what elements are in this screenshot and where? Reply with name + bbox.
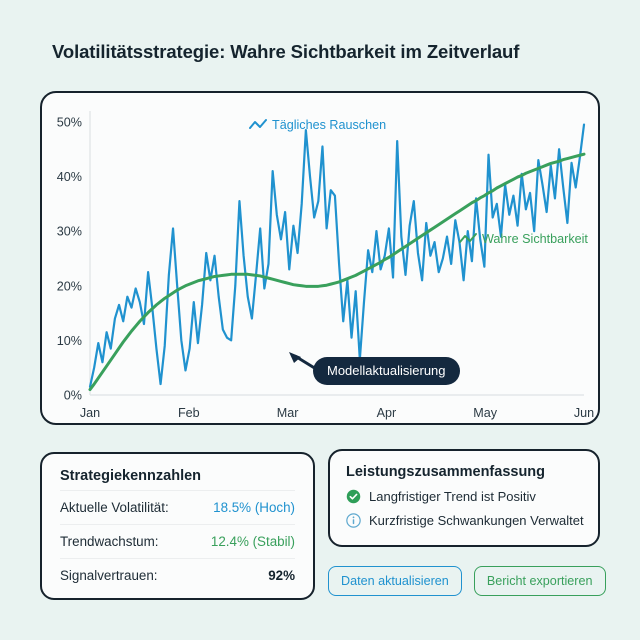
summary-card: Leistungszusammenfassung Langfristiger T…	[328, 449, 600, 547]
x-axis-tick-label: Feb	[178, 406, 200, 420]
metric-row-trend-growth: Trendwachstum: 12.4% (Stabil)	[60, 524, 295, 558]
summary-item-label: Kurzfristige Schwankungen Verwaltet	[369, 513, 584, 528]
metric-value: 18.5% (Hoch)	[213, 500, 295, 515]
y-axis-tick-label: 40%	[57, 170, 82, 184]
x-axis-tick-label: Jan	[80, 406, 100, 420]
noise-series-line	[90, 125, 584, 387]
y-axis-tick-label: 50%	[57, 115, 82, 129]
trend-legend-label: Wahre Sichtbarkeit	[482, 232, 588, 246]
summary-item-trend: Langfristiger Trend ist Positiv	[346, 489, 582, 504]
info-circle-icon	[346, 513, 361, 528]
x-axis-tick-label: Apr	[377, 406, 397, 420]
page-title: Volatilitätsstrategie: Wahre Sichtbarkei…	[52, 41, 519, 63]
summary-card-title: Leistungszusammenfassung	[346, 464, 582, 480]
y-axis-tick-label: 10%	[57, 334, 82, 348]
metric-label: Signalvertrauen:	[60, 568, 158, 583]
refresh-data-button[interactable]: Daten aktualisieren	[328, 566, 462, 596]
x-axis-tick-label: Jun	[574, 406, 594, 420]
action-button-row: Daten aktualisieren Bericht exportieren	[328, 566, 606, 596]
metric-row-signal-confidence: Signalvertrauen: 92%	[60, 558, 295, 592]
export-report-button[interactable]: Bericht exportieren	[474, 566, 606, 596]
x-axis-tick-label: Mar	[277, 406, 299, 420]
summary-item-fluctuations: Kurzfristige Schwankungen Verwaltet	[346, 513, 582, 528]
metric-row-volatility: Aktuelle Volatilität: 18.5% (Hoch)	[60, 490, 295, 524]
metric-label: Trendwachstum:	[60, 534, 158, 549]
summary-item-label: Langfristiger Trend ist Positiv	[369, 489, 536, 504]
noise-legend-marker-icon	[250, 120, 266, 128]
model-update-callout: Modellaktualisierung	[313, 357, 460, 385]
check-circle-icon	[346, 489, 361, 504]
y-axis-tick-label: 0%	[64, 389, 82, 403]
metrics-card-title: Strategiekennzahlen	[60, 468, 295, 484]
y-axis-tick-label: 30%	[57, 225, 82, 239]
x-axis-tick-label: May	[473, 406, 497, 420]
y-axis-tick-label: 20%	[57, 279, 82, 293]
metric-label: Aktuelle Volatilität:	[60, 500, 169, 515]
metrics-card: Strategiekennzahlen Aktuelle Volatilität…	[40, 452, 315, 600]
dashboard-page: Volatilitätsstrategie: Wahre Sichtbarkei…	[0, 0, 640, 640]
noise-legend-label: Tägliches Rauschen	[272, 118, 386, 132]
metric-value: 12.4% (Stabil)	[211, 534, 295, 549]
metric-value: 92%	[268, 568, 295, 583]
